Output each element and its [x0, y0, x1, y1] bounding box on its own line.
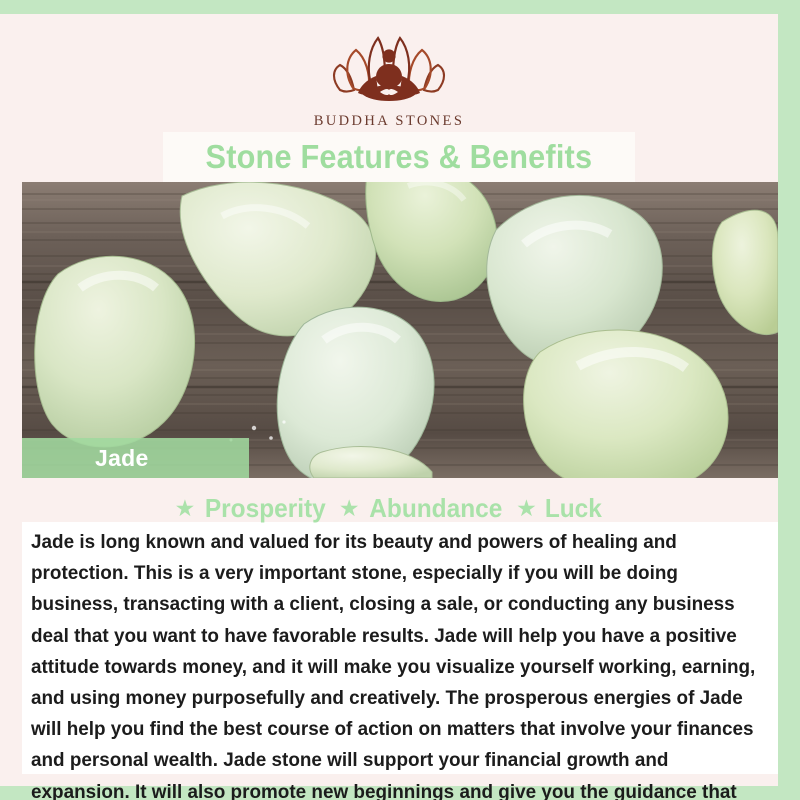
- page-title: Stone Features & Benefits: [206, 138, 593, 176]
- content-card: BUDDHA STONES Stone Features & Benefits: [0, 14, 778, 786]
- star-icon: ★: [175, 497, 196, 520]
- benefit-keyword-abundance: ★ Abundance: [339, 493, 507, 524]
- benefit-keyword-luck: ★ Luck: [516, 493, 603, 524]
- stone-name-tag: Jade: [22, 438, 249, 478]
- benefit-label: Luck: [545, 493, 602, 524]
- stone-description-text: Jade is long known and valued for its be…: [31, 527, 758, 800]
- stone-photo: [22, 182, 778, 478]
- benefit-keyword-prosperity: ★ Prosperity: [175, 493, 330, 524]
- benefit-label: Abundance: [370, 493, 503, 524]
- poster-root: BUDDHA STONES Stone Features & Benefits: [0, 0, 800, 800]
- benefit-keywords-row: ★ Prosperity ★ Abundance ★ Luck: [22, 492, 756, 524]
- star-icon: ★: [339, 497, 360, 520]
- section-title-banner: Stone Features & Benefits: [163, 132, 635, 182]
- star-icon: ★: [516, 497, 537, 520]
- lotus-meditation-icon: [314, 30, 464, 106]
- benefit-label: Prosperity: [205, 493, 326, 524]
- stone-description-panel: Jade is long known and valued for its be…: [22, 522, 778, 774]
- stone-name-label: Jade: [95, 445, 149, 472]
- brand-name: BUDDHA STONES: [314, 113, 465, 130]
